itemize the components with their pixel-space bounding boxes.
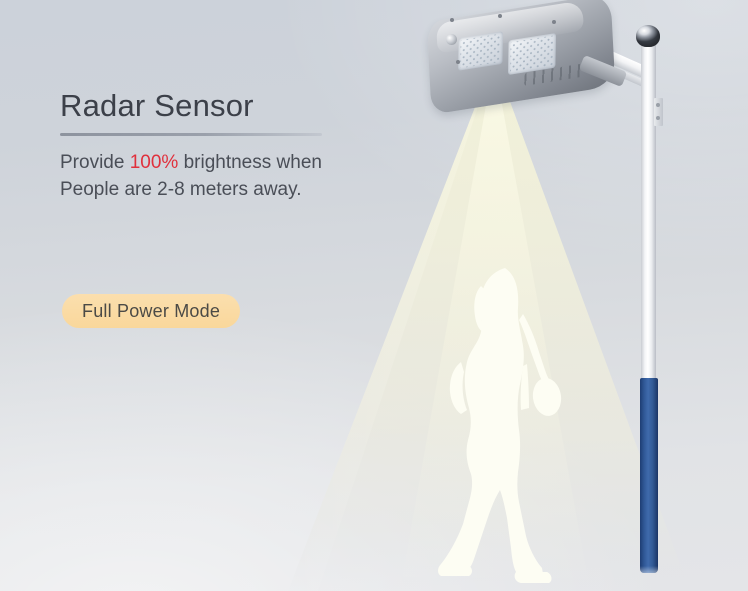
walking-pedestrian-silhouette xyxy=(437,262,587,590)
housing-screw xyxy=(456,60,460,64)
text-block: Radar Sensor Provide 100% brightness whe… xyxy=(60,88,460,204)
title-divider xyxy=(60,133,322,136)
housing-screw xyxy=(552,20,556,24)
housing-screw xyxy=(450,18,454,22)
bracket-bolt-upper xyxy=(656,103,660,107)
pole-upper-section xyxy=(641,36,656,381)
housing-screw xyxy=(498,14,502,18)
description-line-2: People are 2-8 meters away. xyxy=(60,179,302,200)
description-part-1: Provide xyxy=(60,152,130,173)
solar-led-street-light xyxy=(428,8,614,100)
brightness-percent-highlight: 100% xyxy=(130,152,179,173)
pole-mount-bracket xyxy=(654,98,663,126)
radar-sensor-banner: Radar Sensor Provide 100% brightness whe… xyxy=(0,0,748,591)
status-badge: Full Power Mode xyxy=(62,294,240,328)
pole-lower-blue-section xyxy=(640,378,658,573)
page-title: Radar Sensor xyxy=(60,88,460,124)
description-part-2: brightness when xyxy=(178,152,322,173)
pole-cap-sphere xyxy=(636,25,660,47)
bracket-bolt-lower xyxy=(656,116,660,120)
description-text: Provide 100% brightness when People are … xyxy=(60,150,460,204)
